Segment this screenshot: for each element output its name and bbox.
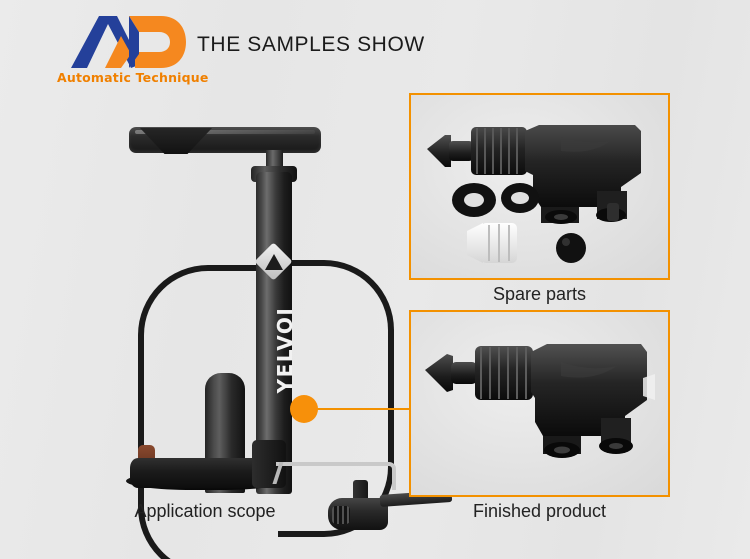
caption-spare-parts: Spare parts <box>409 284 670 305</box>
caption-finished-product: Finished product <box>409 501 670 522</box>
finished-product-photo <box>411 312 668 495</box>
spare-parts-illustration <box>411 95 670 280</box>
logo-tagline: Automatic Technique <box>57 70 193 85</box>
samples-show-page: Automatic Technique THE SAMPLES SHOW YEL… <box>0 0 750 559</box>
md-monogram-logo <box>65 14 187 70</box>
spare-parts-photo <box>411 95 668 278</box>
caption-application-scope: Application scope <box>60 501 350 522</box>
page-title: THE SAMPLES SHOW <box>197 33 425 57</box>
panel-finished-product <box>409 310 670 497</box>
pump-foot-bar <box>276 462 396 490</box>
page-header: Automatic Technique THE SAMPLES SHOW <box>0 0 750 92</box>
application-scope-photo: YELVOI <box>80 110 410 500</box>
callout-leader-line <box>303 408 411 410</box>
nozzle-callout-dot <box>290 395 318 423</box>
pump-brand-text: YELVOI <box>273 295 297 405</box>
brand-logo: Automatic Technique <box>57 14 193 92</box>
finished-product-illustration <box>411 312 670 497</box>
panel-spare-parts <box>409 93 670 280</box>
